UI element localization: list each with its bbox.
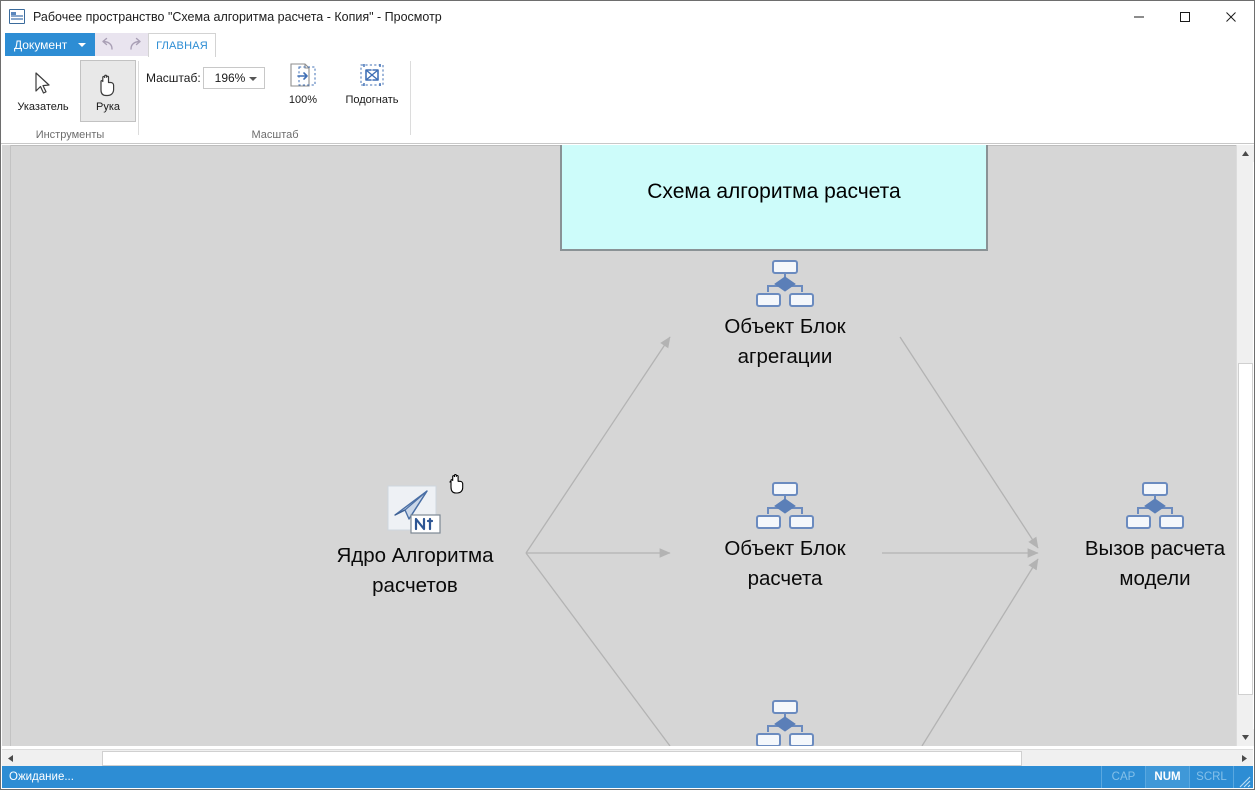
hierarchy-node-icon	[1124, 482, 1186, 530]
node-model-call-label: Вызов расчета модели	[1085, 534, 1225, 594]
close-icon	[1225, 11, 1237, 23]
workspace-icon	[9, 9, 25, 24]
window-controls	[1116, 1, 1254, 32]
minimize-icon	[1133, 11, 1145, 23]
label-line-2: модели	[1119, 567, 1190, 590]
ribbon-group-zoom-label: Масштаб	[139, 129, 411, 141]
hand-cursor	[446, 470, 468, 494]
hierarchy-node-icon	[754, 260, 816, 308]
connector-aggregation-to-modelcall	[900, 337, 1038, 548]
zoom-label: Масштаб:	[146, 71, 201, 85]
vertical-scrollbar[interactable]	[1236, 145, 1253, 746]
label-line-1: Объект Блок	[724, 315, 845, 338]
label-line-1: Ядро Алгоритма	[336, 544, 493, 567]
status-badge-num: NUM	[1145, 766, 1189, 788]
node-aggregation-block-label: Объект Блок агрегации	[724, 312, 845, 372]
scroll-left-button[interactable]	[2, 750, 19, 767]
label-line-1: Вызов расчета	[1085, 537, 1225, 560]
scroll-right-button[interactable]	[1236, 750, 1253, 767]
zoom-reset-button[interactable]: 100%	[272, 59, 334, 109]
chevron-down-icon	[249, 77, 257, 81]
hand-icon	[95, 67, 121, 101]
node-calculation-block[interactable]: Объект Блок расчета	[684, 482, 886, 594]
close-button[interactable]	[1208, 1, 1254, 32]
label-line-2: расчета	[748, 567, 823, 590]
connector-bottom-to-modelcall	[922, 559, 1038, 746]
diagram-title-text: Схема алгоритма расчета	[647, 180, 900, 204]
minimize-button[interactable]	[1116, 1, 1162, 32]
scroll-left-arrow	[7, 754, 14, 763]
diagram-title-shape[interactable]: Схема алгоритма расчета	[560, 145, 988, 251]
window-title: Рабочее пространство "Схема алгоритма ра…	[33, 10, 442, 24]
label-line-1: Объект Блок	[724, 537, 845, 560]
node-algorithm-core-label: Ядро Алгоритма расчетов	[336, 541, 493, 601]
application-window: Рабочее пространство "Схема алгоритма ра…	[0, 0, 1255, 790]
tab-strip: Документ ГЛАВНАЯ	[1, 32, 1254, 58]
tab-home[interactable]: ГЛАВНАЯ	[148, 33, 216, 58]
connector-core-to-bottom	[526, 553, 670, 746]
title-bar: Рабочее пространство "Схема алгоритма ра…	[1, 1, 1254, 32]
scroll-right-arrow	[1241, 754, 1248, 763]
horizontal-scrollbar-thumb[interactable]	[102, 751, 1022, 766]
scroll-up-arrow	[1241, 150, 1250, 157]
ribbon-group-zoom: Масштаб: 196% 100%	[139, 57, 411, 143]
label-line-2: агрегации	[738, 345, 833, 368]
zoom-combo[interactable]: 196%	[203, 67, 265, 89]
tool-pointer-label: Указатель	[17, 101, 68, 114]
undo-icon[interactable]	[98, 36, 118, 54]
node-model-call[interactable]: Вызов расчета модели	[1054, 482, 1253, 594]
zoom-fit-button[interactable]: Подогнать	[335, 59, 409, 109]
pointer-icon	[32, 67, 54, 101]
scroll-down-arrow	[1241, 734, 1250, 741]
document-menu-button[interactable]: Документ	[5, 33, 95, 56]
node-aggregation-block[interactable]: Объект Блок агрегации	[684, 260, 886, 372]
hierarchy-node-icon	[754, 482, 816, 530]
status-indicators: CAP NUM SCRL	[1101, 766, 1253, 788]
scroll-down-button[interactable]	[1237, 729, 1254, 746]
scroll-up-button[interactable]	[1237, 145, 1254, 162]
label-line-2: расчетов	[372, 574, 458, 597]
zoom-reset-label: 100%	[289, 94, 317, 106]
tool-pointer[interactable]: Указатель	[15, 60, 71, 122]
ribbon: Указатель Рука Инструменты Масштаб: 196%	[1, 57, 1254, 144]
node-algorithm-core[interactable]: Ядро Алгоритма расчетов	[314, 485, 516, 601]
group-divider	[410, 61, 411, 135]
diagram-canvas[interactable]: Схема алгоритма расчета Объект Блок агре…	[2, 145, 1253, 746]
hierarchy-node-icon	[754, 700, 816, 746]
node-bottom-clipped[interactable]	[684, 700, 886, 746]
horizontal-scrollbar[interactable]	[2, 749, 1253, 766]
zoom-fit-label: Подогнать	[345, 94, 398, 106]
status-badge-scrl: SCRL	[1189, 766, 1233, 788]
quick-access-toolbar	[95, 33, 148, 56]
redo-icon[interactable]	[125, 36, 145, 54]
maximize-button[interactable]	[1162, 1, 1208, 32]
ribbon-group-tools: Указатель Рука Инструменты	[1, 57, 139, 143]
tool-hand[interactable]: Рука	[80, 60, 136, 122]
vertical-scrollbar-thumb[interactable]	[1238, 363, 1253, 695]
status-message: Ожидание...	[9, 771, 74, 783]
ribbon-group-tools-label: Инструменты	[1, 129, 139, 141]
resize-grip-icon[interactable]	[1233, 766, 1253, 788]
fit-page-icon	[285, 60, 321, 94]
document-menu-label: Документ	[14, 38, 67, 52]
maximize-icon	[1179, 11, 1191, 23]
status-bar: Ожидание... CAP NUM SCRL	[2, 766, 1253, 788]
algorithm-core-icon	[387, 485, 443, 537]
node-calculation-block-label: Объект Блок расчета	[724, 534, 845, 594]
connector-core-to-aggregation	[526, 337, 670, 553]
status-badge-cap: CAP	[1101, 766, 1145, 788]
diagram-content[interactable]: Схема алгоритма расчета Объект Блок агре…	[2, 145, 1253, 746]
chevron-down-icon	[78, 43, 86, 47]
tool-hand-label: Рука	[96, 101, 120, 114]
fit-selection-icon	[354, 60, 390, 94]
tab-home-label: ГЛАВНАЯ	[156, 40, 208, 52]
